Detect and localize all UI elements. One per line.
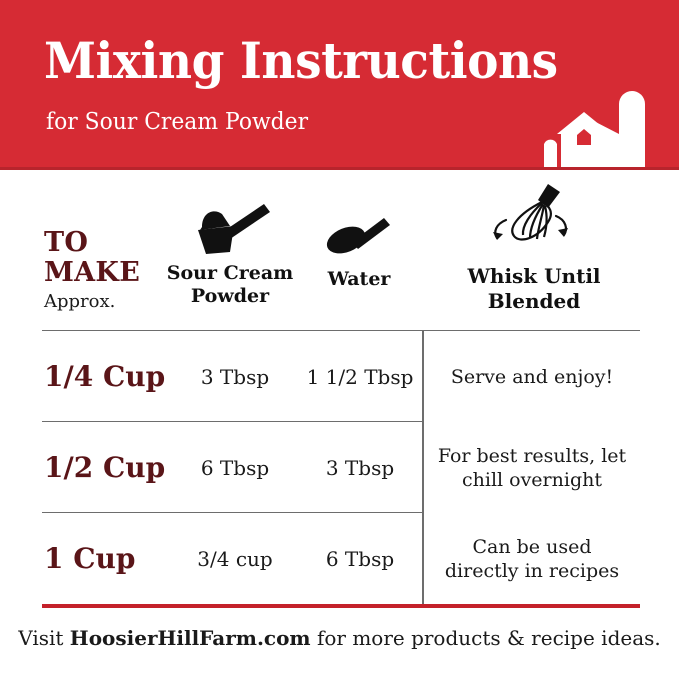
- to-make-line2: MAKE: [44, 258, 174, 288]
- table-row: 1 Cup 3/4 cup 6 Tbsp Can be used directl…: [0, 513, 679, 604]
- cell-amount: 1/2 Cup: [44, 422, 184, 513]
- to-make-heading: TO MAKE Approx.: [44, 228, 174, 314]
- footer-website-link[interactable]: HoosierHillFarm.com: [70, 626, 311, 650]
- table-row: 1/4 Cup 3 Tbsp 1 1/2 Tbsp Serve and enjo…: [0, 331, 679, 422]
- cell-note: Can be used directly in recipes: [424, 513, 640, 604]
- column-label-powder-line2: Powder: [162, 285, 298, 308]
- cell-amount: 1 Cup: [44, 513, 184, 604]
- spoon-icon: [322, 212, 396, 256]
- cell-amount: 1/4 Cup: [44, 331, 184, 422]
- column-header-water: Water: [300, 194, 418, 291]
- cell-note-line1: For best results, let: [438, 444, 626, 468]
- column-header-note: Whisk Until Blended: [430, 188, 638, 314]
- cell-water: 3 Tbsp: [298, 422, 422, 513]
- cell-note-line2: directly in recipes: [445, 559, 619, 583]
- cell-note-line2: chill overnight: [438, 468, 626, 492]
- cell-note: Serve and enjoy!: [424, 331, 640, 422]
- measuring-scoop-icon-wrap: [162, 194, 298, 256]
- header-banner: Mixing Instructions for Sour Cream Powde…: [0, 0, 679, 170]
- to-make-line1: TO: [44, 228, 174, 258]
- column-label-water: Water: [300, 268, 418, 291]
- table-row: 1/2 Cup 6 Tbsp 3 Tbsp For best results, …: [0, 422, 679, 513]
- cell-powder: 3 Tbsp: [170, 331, 300, 422]
- column-label-note-line1: Whisk Until: [430, 264, 638, 289]
- column-header-band: TO MAKE Approx. Sour Cream Powder: [0, 170, 679, 330]
- measuring-scoop-icon: [184, 200, 276, 256]
- footer-prefix: Visit: [18, 626, 70, 650]
- cell-note-line1: Can be used: [445, 535, 619, 559]
- whisk-icon-wrap: [430, 188, 638, 250]
- cell-powder: 3/4 cup: [170, 513, 300, 604]
- page-title: Mixing Instructions: [44, 32, 558, 90]
- column-label-powder-line1: Sour Cream: [162, 262, 298, 285]
- infographic-page: Mixing Instructions for Sour Cream Powde…: [0, 0, 679, 679]
- cell-water: 6 Tbsp: [298, 513, 422, 604]
- column-label-note-line2: Blended: [430, 289, 638, 314]
- footer-suffix: for more products & recipe ideas.: [311, 626, 661, 650]
- footer-text: Visit HoosierHillFarm.com for more produ…: [0, 626, 679, 650]
- whisk-icon: [482, 182, 586, 250]
- page-subtitle: for Sour Cream Powder: [46, 107, 308, 137]
- table-bottom-rule: [42, 604, 640, 608]
- column-header-powder: Sour Cream Powder: [162, 194, 298, 308]
- barn-silo-icon: [531, 82, 661, 170]
- to-make-approx: Approx.: [44, 290, 174, 314]
- cell-water: 1 1/2 Tbsp: [298, 331, 422, 422]
- spoon-icon-wrap: [300, 194, 418, 256]
- cell-note-line1: Serve and enjoy!: [451, 365, 613, 389]
- cell-powder: 6 Tbsp: [170, 422, 300, 513]
- cell-note: For best results, let chill overnight: [424, 422, 640, 513]
